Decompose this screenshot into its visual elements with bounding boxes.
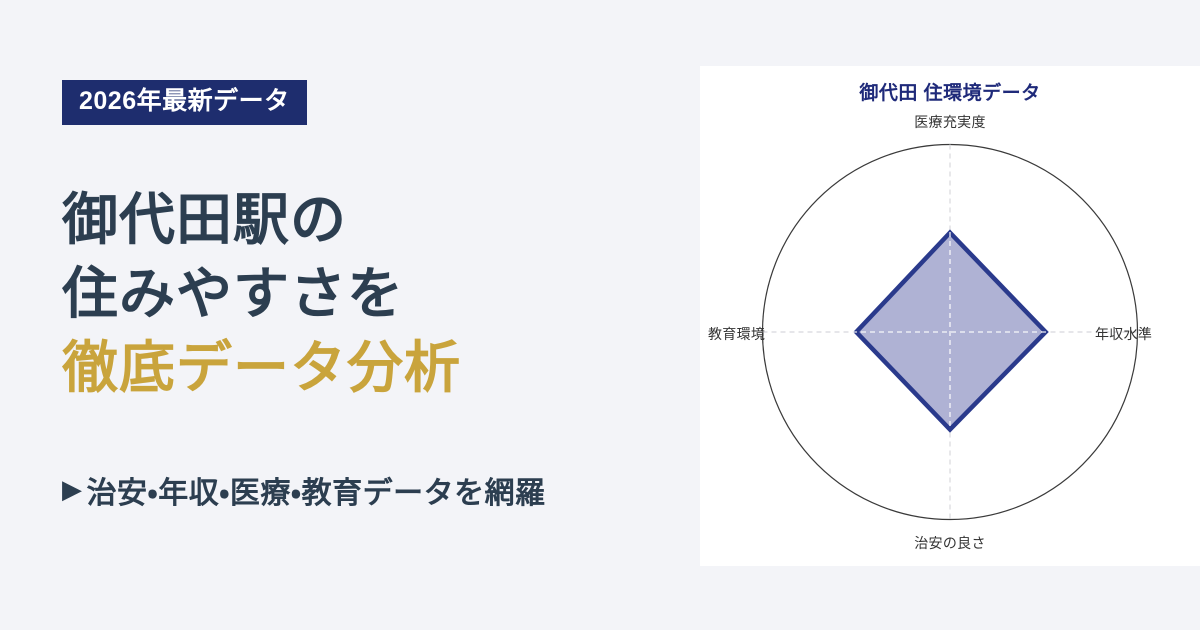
radar-chart-svg: [700, 66, 1200, 566]
headline-line-1: 御代田駅の: [62, 183, 682, 257]
triangle-right-icon: ▶: [62, 476, 83, 502]
radar-label-safety: 治安の良さ: [914, 533, 986, 553]
latest-data-badge: 2026年最新データ: [62, 80, 307, 125]
subtitle-text: 治安・年収・医療・教育データを網羅: [87, 468, 546, 512]
hero-text-column: 2026年最新データ 御代田駅の 住みやすさを 徹底データ分析 ▶ 治安・年収・…: [62, 0, 682, 630]
radar-label-income: 年収水準: [1095, 324, 1152, 344]
subtitle: ▶ 治安・年収・医療・教育データを網羅: [62, 468, 546, 512]
radar-label-medical: 医療充実度: [914, 112, 986, 132]
radar-label-education: 教育環境: [708, 324, 765, 344]
radar-chart-panel: 御代田 住環境データ 医療充実度 年収水準 治安の良さ 教育環境: [700, 66, 1200, 566]
radar-data-polygon: [856, 233, 1045, 430]
headline-line-2: 住みやすさを: [62, 257, 682, 331]
page-title: 御代田駅の 住みやすさを 徹底データ分析: [62, 183, 682, 405]
headline-line-3: 徹底データ分析: [62, 331, 682, 405]
